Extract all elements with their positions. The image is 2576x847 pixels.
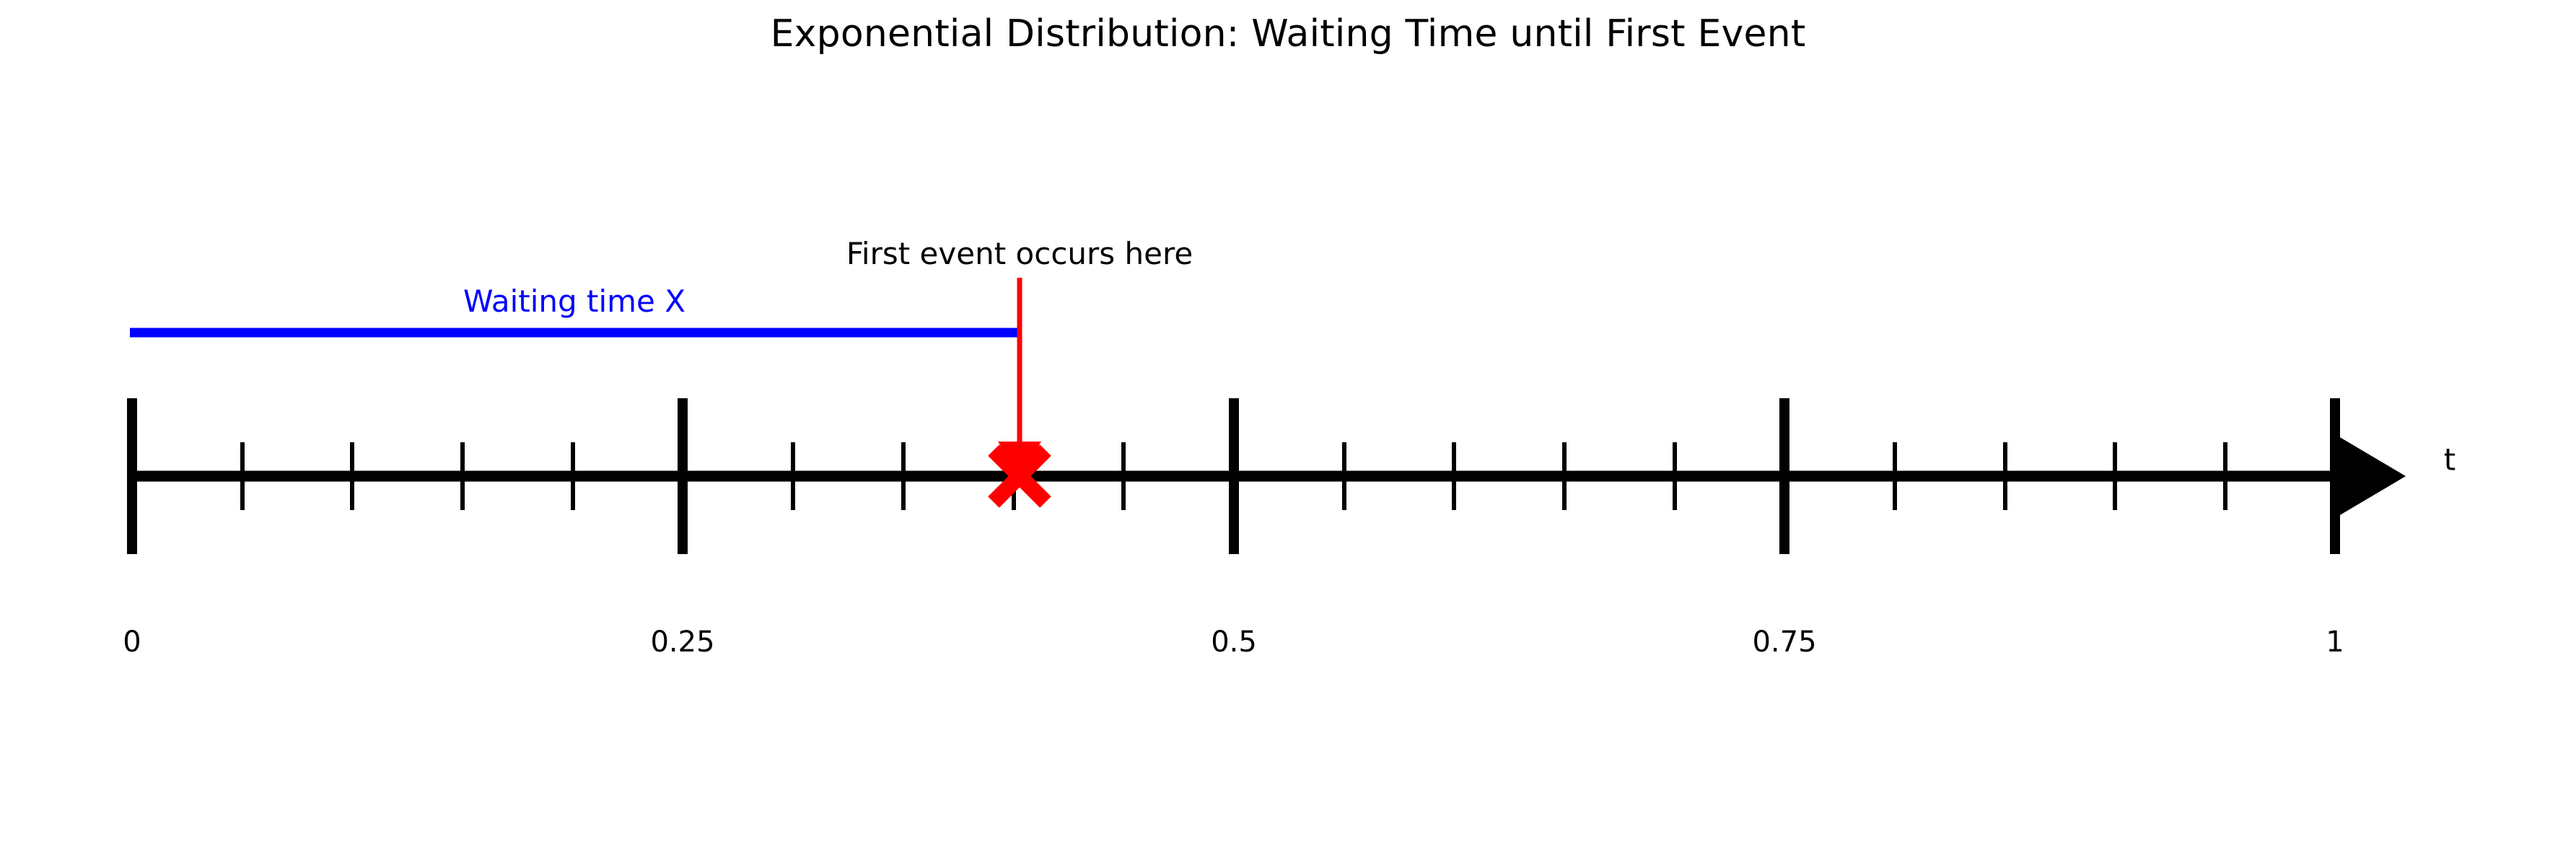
tick-label-0.5: 0.5 [1211,626,1257,659]
tick-label-1: 1 [2326,626,2344,659]
tick-label-0: 0 [123,626,141,659]
axis-name-label: t [2444,442,2455,478]
first-event-annotation-label: First event occurs here [846,236,1193,271]
tick-label-0.75: 0.75 [1752,626,1816,659]
waiting-time-label: Waiting time X [463,284,685,319]
figure-canvas: Exponential Distribution: Waiting Time u… [0,0,2576,847]
right-arrowhead-icon [2335,434,2406,518]
tick-label-0.25: 0.25 [650,626,714,659]
number-line-plot [0,0,2576,847]
